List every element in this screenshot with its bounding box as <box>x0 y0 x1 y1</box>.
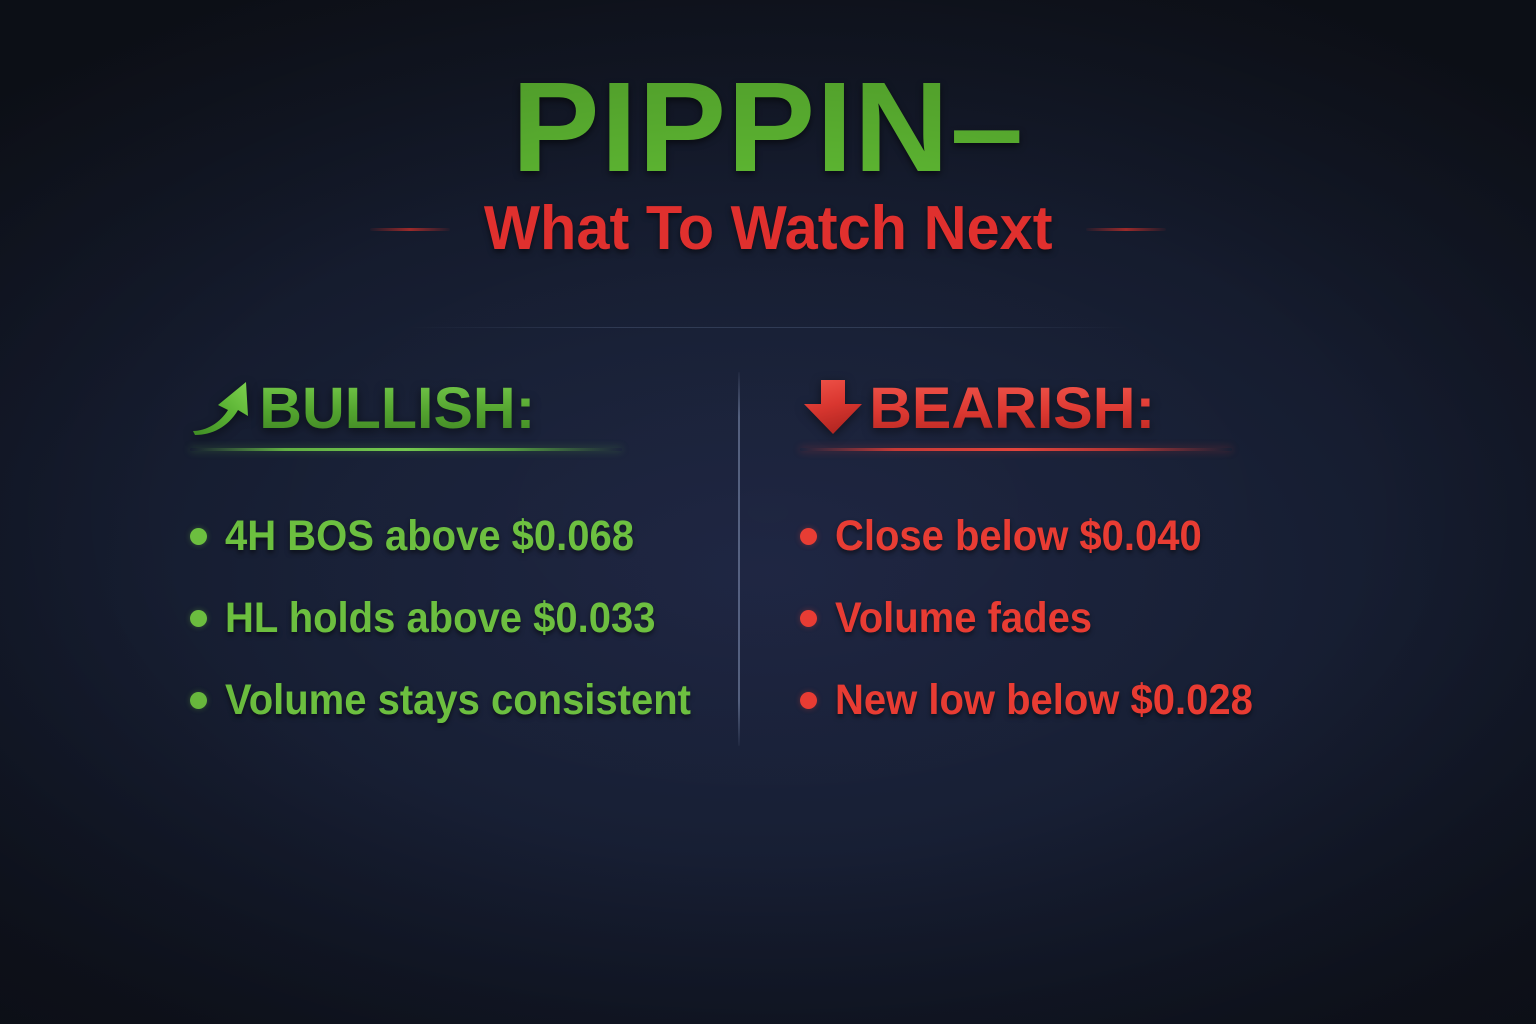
header-divider <box>408 327 1128 328</box>
bearish-list: Close below $0.040 Volume fades New low … <box>800 495 1476 741</box>
list-item-label: Volume fades <box>835 597 1092 640</box>
infographic-canvas: PIPPIN– What To Watch Next <box>0 0 1536 1024</box>
bullish-column: BULLISH: 4H BOS above $0.068 HL holds ab… <box>0 362 768 741</box>
bullet-dot-icon <box>800 528 817 545</box>
bullet-dot-icon <box>800 692 817 709</box>
list-item: 4H BOS above $0.068 <box>190 495 708 577</box>
bullet-dot-icon <box>190 692 207 709</box>
subtitle-row: What To Watch Next <box>0 198 1536 260</box>
subtitle-dash-left <box>370 228 450 231</box>
bearish-heading-rule <box>800 448 1232 451</box>
bullish-heading-rule <box>190 448 622 451</box>
header: PIPPIN– What To Watch Next <box>0 0 1536 260</box>
list-item-label: Close below $0.040 <box>835 515 1202 558</box>
page-subtitle: What To Watch Next <box>484 198 1053 260</box>
bullish-list: 4H BOS above $0.068 HL holds above $0.03… <box>190 495 708 741</box>
bearish-heading-row: BEARISH: <box>800 362 1476 436</box>
list-item: New low below $0.028 <box>800 659 1476 741</box>
list-item: Volume fades <box>800 577 1476 659</box>
page-title: PIPPIN– <box>0 0 1536 192</box>
bullet-dot-icon <box>190 610 207 627</box>
list-item-label: Volume stays consistent <box>225 679 691 722</box>
trend-up-arrow-icon <box>190 377 256 437</box>
list-item-label: HL holds above $0.033 <box>225 597 655 640</box>
list-item: HL holds above $0.033 <box>190 577 708 659</box>
bearish-column: BEARISH: Close below $0.040 Volume fades… <box>768 362 1536 741</box>
bullish-heading-row: BULLISH: <box>190 362 708 436</box>
bullet-dot-icon <box>800 610 817 627</box>
list-item: Close below $0.040 <box>800 495 1476 577</box>
bullish-heading-label: BULLISH: <box>259 380 535 438</box>
bullet-dot-icon <box>190 528 207 545</box>
list-item-label: 4H BOS above $0.068 <box>225 515 634 558</box>
arrow-down-icon <box>800 377 866 437</box>
subtitle-dash-right <box>1086 228 1166 231</box>
bearish-heading-label: BEARISH: <box>869 380 1155 438</box>
list-item: Volume stays consistent <box>190 659 708 741</box>
list-item-label: New low below $0.028 <box>835 679 1253 722</box>
columns-container: BULLISH: 4H BOS above $0.068 HL holds ab… <box>0 362 1536 741</box>
